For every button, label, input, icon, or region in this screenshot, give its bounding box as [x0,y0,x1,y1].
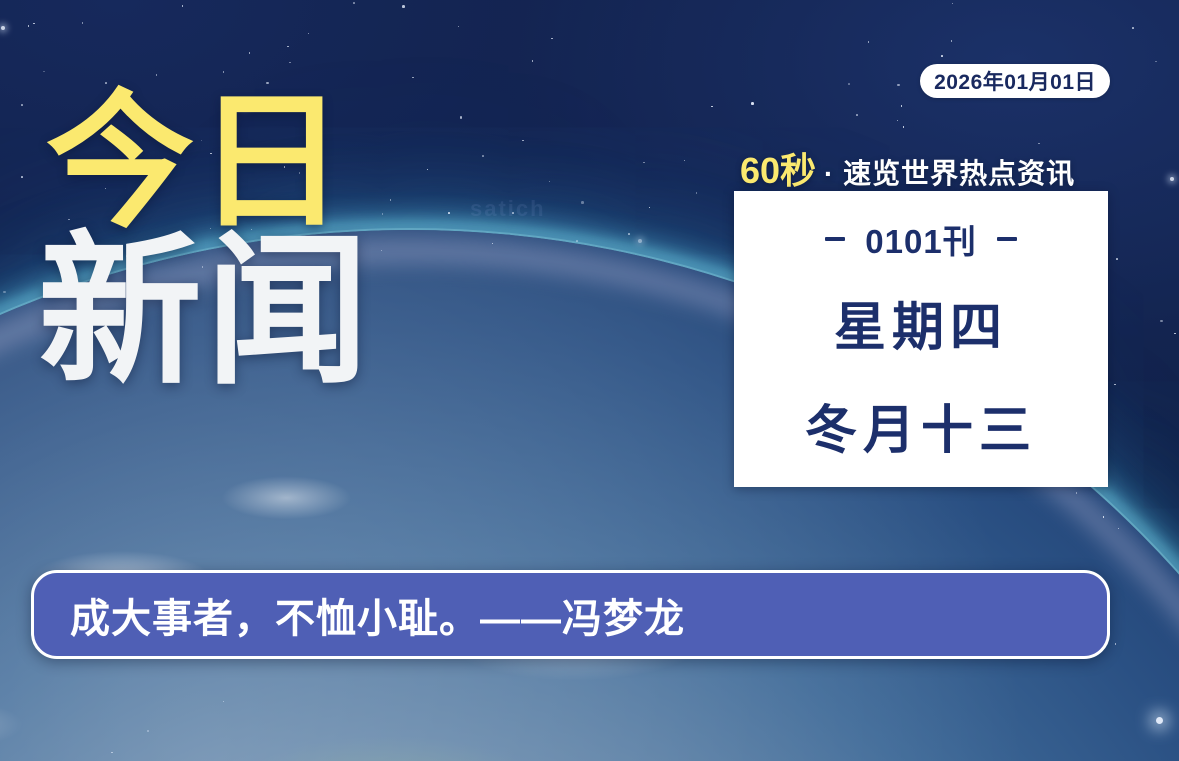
quote-bar: 成大事者，不恤小耻。——冯梦龙 [31,570,1110,659]
lunar-date-label: 冬月十三 [805,388,1037,463]
dash-right-icon [997,237,1017,241]
issue-row: 0101刊 [825,215,1016,263]
date-badge-label: 2026年01月01日 [934,66,1096,96]
date-badge: 2026年01月01日 [920,64,1110,98]
tagline: 60秒 · 速览世界热点资讯 [740,142,1075,194]
background-watermark: satich [470,196,546,222]
tagline-description: · 速览世界热点资讯 [824,152,1075,192]
issue-info-card: 0101刊 星期四 冬月十三 [734,191,1108,487]
title-line-today: 今日 [46,95,466,231]
tagline-60-seconds: 60秒 [740,142,816,194]
page-title: 今日 新闻 [46,95,466,388]
issue-number: 0101刊 [865,215,976,263]
weekday-label: 星期四 [834,285,1008,360]
quote-text: 成大事者，不恤小耻。——冯梦龙 [70,586,685,644]
title-line-news: 新闻 [38,237,466,388]
dash-left-icon [825,237,845,241]
news-poster: satich 2026年01月01日 今日 新闻 60秒 · 速览世界热点资讯 … [0,0,1179,761]
